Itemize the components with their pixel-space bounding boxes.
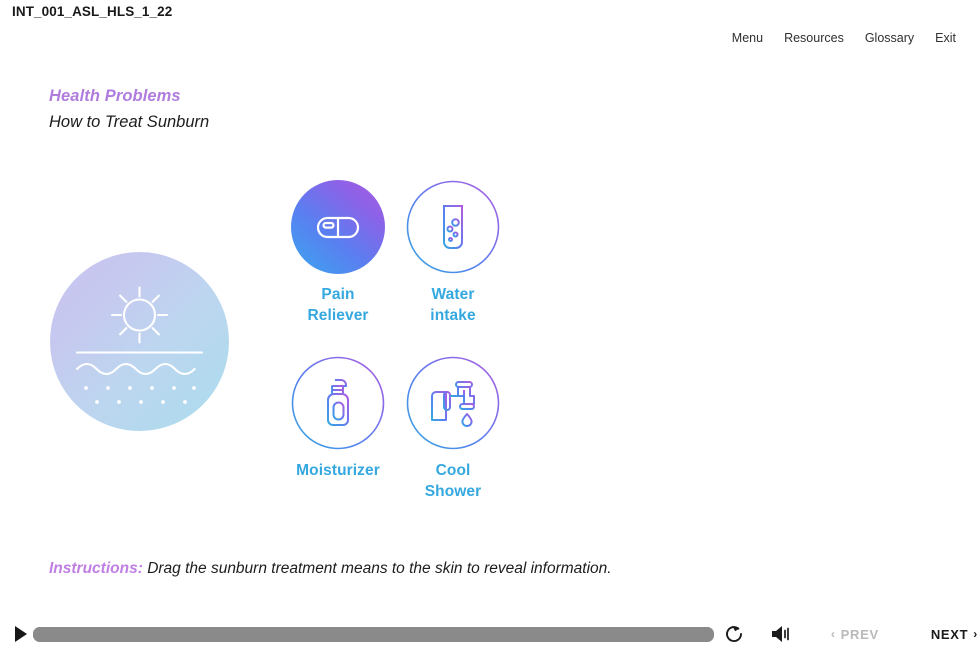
player-bar: ‹ PREV NEXT ›	[0, 612, 978, 656]
play-icon	[15, 626, 27, 642]
nav-glossary[interactable]: Glossary	[865, 31, 914, 45]
lotion-bottle-icon	[291, 356, 385, 450]
draggable-option-water-intake[interactable]: Water intake	[373, 180, 533, 327]
replay-button[interactable]	[723, 612, 745, 656]
next-button[interactable]: NEXT ›	[931, 627, 978, 642]
label-line-1: Water	[432, 286, 475, 303]
sunburned-skin-target[interactable]	[50, 252, 229, 431]
instructions-label: Instructions:	[49, 560, 143, 577]
nav-exit[interactable]: Exit	[935, 31, 956, 45]
seek-bar[interactable]	[33, 627, 714, 642]
slide-stage: INT_001_ASL_HLS_1_22 Menu Resources Glos…	[0, 0, 978, 656]
label-line-1: Pain	[321, 286, 354, 303]
play-button[interactable]	[14, 612, 29, 656]
chevron-left-icon: ‹	[831, 628, 836, 640]
water-intake-label: Water intake	[430, 284, 475, 327]
prev-button[interactable]: ‹ PREV	[831, 627, 879, 642]
sun-over-skin-icon	[50, 252, 229, 431]
nav-resources[interactable]: Resources	[784, 31, 844, 45]
lesson-title: How to Treat Sunburn	[49, 110, 209, 136]
pain-reliever-badge[interactable]	[291, 180, 385, 274]
instructions: Instructions: Drag the sunburn treatment…	[49, 558, 612, 580]
label-line-2: Shower	[425, 483, 482, 500]
slide-id-label: INT_001_ASL_HLS_1_22	[12, 4, 172, 19]
chevron-right-icon: ›	[973, 628, 978, 640]
label-line-2: Reliever	[307, 307, 368, 324]
replay-icon	[723, 623, 745, 645]
water-intake-badge[interactable]	[406, 180, 500, 274]
cool-shower-label: Cool Shower	[425, 460, 482, 503]
topic-title: Health Problems	[49, 84, 209, 109]
title-block: Health Problems How to Treat Sunburn	[49, 84, 209, 135]
cool-shower-badge[interactable]	[406, 356, 500, 450]
prev-label: PREV	[841, 627, 879, 642]
volume-button[interactable]	[769, 612, 793, 656]
top-navigation: Menu Resources Glossary Exit	[732, 31, 956, 45]
pill-capsule-icon	[311, 200, 365, 254]
draggable-option-cool-shower[interactable]: Cool Shower	[373, 356, 533, 503]
label-line-2: intake	[430, 307, 475, 324]
seek-progress	[33, 627, 714, 642]
instructions-text: Drag the sunburn treatment means to the …	[147, 560, 611, 577]
next-label: NEXT	[931, 627, 968, 642]
water-glass-icon	[406, 180, 500, 274]
pain-reliever-label: Pain Reliever	[307, 284, 368, 327]
volume-icon	[769, 623, 793, 645]
nav-menu[interactable]: Menu	[732, 31, 763, 45]
moisturizer-badge[interactable]	[291, 356, 385, 450]
moisturizer-label: Moisturizer	[296, 460, 380, 481]
faucet-tap-icon	[406, 356, 500, 450]
label-line-1: Cool	[436, 462, 471, 479]
